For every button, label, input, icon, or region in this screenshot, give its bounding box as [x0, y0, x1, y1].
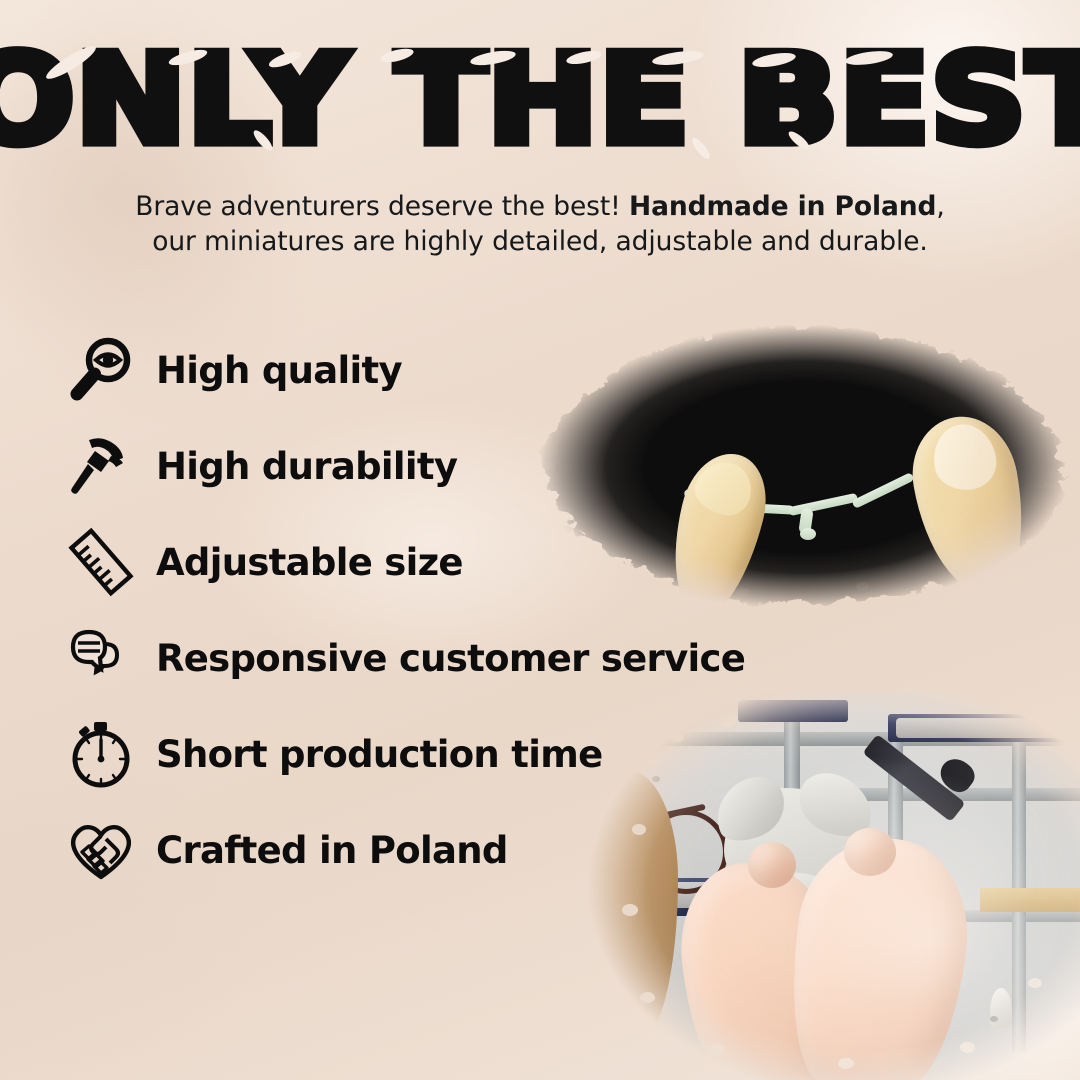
stopwatch-icon [62, 715, 140, 793]
feature-label: High quality [156, 349, 402, 392]
poster-canvas: ONLY THE BEST Brave adventurers deserve … [0, 0, 1080, 1080]
shelf [648, 732, 1078, 746]
shelf-upright [784, 716, 800, 1056]
dragon-miniature [724, 788, 864, 908]
page-title: ONLY THE BEST [0, 40, 1080, 160]
fingernail [928, 419, 1001, 495]
subtitle-line-2: our miniatures are highly detailed, adju… [152, 226, 928, 257]
dragon-wing-left [706, 769, 794, 850]
subtitle-lead: Brave adventurers deserve the best! [135, 191, 629, 222]
feature-label: High durability [156, 445, 457, 488]
headline-container: ONLY THE BEST [0, 40, 1080, 156]
workshop-painting-photo [588, 692, 1080, 1080]
torn-edge-mask [588, 692, 1080, 1080]
magnifier-eye-icon [62, 331, 140, 409]
subtitle-bold-phrase: Handmade in Poland [629, 191, 936, 222]
painted-figure [990, 988, 1012, 1028]
raw-miniatures [896, 718, 1068, 738]
shelf-upright [888, 716, 903, 1062]
miniature-tray [738, 700, 848, 722]
shelf [818, 788, 1080, 801]
shelf-upright [1012, 722, 1026, 1052]
feature-label: Short production time [156, 733, 602, 776]
ruler-icon [62, 523, 140, 601]
hammer-icon [62, 427, 140, 505]
dragon-body [744, 872, 840, 928]
subtitle-comma: , [936, 191, 944, 222]
subtitle: Brave adventurers deserve the best! Hand… [90, 190, 990, 260]
feature-label: Responsive customer service [156, 637, 745, 680]
hand-right [779, 829, 978, 1080]
hobby-tool-cap [934, 753, 979, 798]
feature-label: Crafted in Poland [156, 829, 508, 872]
flexible-miniature-photo [526, 312, 1080, 622]
wooden-shelf-board [980, 888, 1080, 912]
thumb-left [748, 842, 796, 888]
feature-label: Adjustable size [156, 541, 463, 584]
hobby-tool [862, 734, 965, 822]
speech-bubbles-icon [62, 619, 140, 697]
dragon-wing-right [791, 766, 881, 845]
heart-handshake-icon [62, 811, 140, 889]
thumb-right [844, 828, 896, 876]
torn-edge-mask [526, 312, 1080, 622]
shelf [888, 910, 1080, 922]
